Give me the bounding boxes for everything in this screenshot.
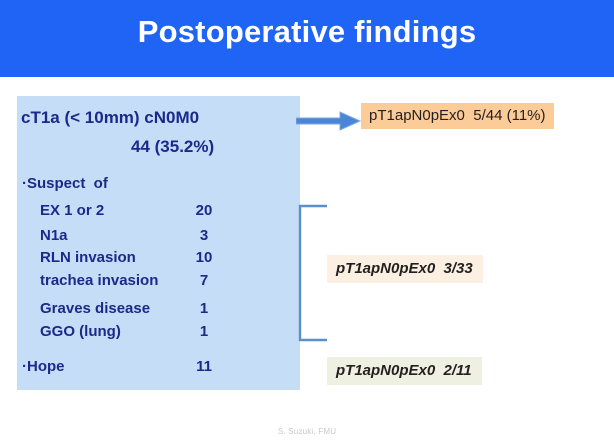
panel-heading-count: 44 (35.2%)	[131, 137, 214, 157]
panel-heading-stage: cT1a (< 10mm) cN0M0	[21, 108, 199, 128]
title-banner: Postoperative findings	[0, 0, 614, 77]
list-item-label-n1a: N1a	[40, 227, 68, 244]
list-group-hope-label: ·Hope	[22, 358, 65, 375]
arrow-right-icon	[296, 111, 362, 131]
list-item-value-n1a: 3	[181, 227, 227, 244]
slide-canvas: Postoperative findings cT1a (< 10mm) cN0…	[0, 0, 614, 447]
list-item-label-trachea-invasion: trachea invasion	[40, 272, 158, 289]
bracket-connector-icon	[297, 204, 329, 342]
callout-result-hope: pT1apN0pEx0 2/11	[327, 357, 482, 385]
list-item-label-ex: EX 1 or 2	[40, 202, 104, 219]
list-item-value-graves-disease: 1	[181, 300, 227, 317]
list-item-label-graves-disease: Graves disease	[40, 300, 150, 317]
list-item-value-ggo-lung: 1	[181, 323, 227, 340]
footer-credit: S. Suzuki, FMU	[0, 427, 614, 436]
list-item-value-ex: 20	[181, 202, 227, 219]
callout-result-overall: pT1apN0pEx0 5/44 (11%)	[361, 103, 554, 129]
list-item-value-rln-invasion: 10	[181, 249, 227, 266]
list-item-label-ggo-lung: GGO (lung)	[40, 323, 121, 340]
page-title: Postoperative findings	[0, 14, 614, 50]
list-item-label-rln-invasion: RLN invasion	[40, 249, 136, 266]
list-item-value-trachea-invasion: 7	[181, 272, 227, 289]
list-group-suspect-label: ·Suspect of	[22, 175, 108, 192]
callout-result-suspect: pT1apN0pEx0 3/33	[327, 255, 483, 283]
list-item-value-hope: 11	[181, 358, 227, 375]
